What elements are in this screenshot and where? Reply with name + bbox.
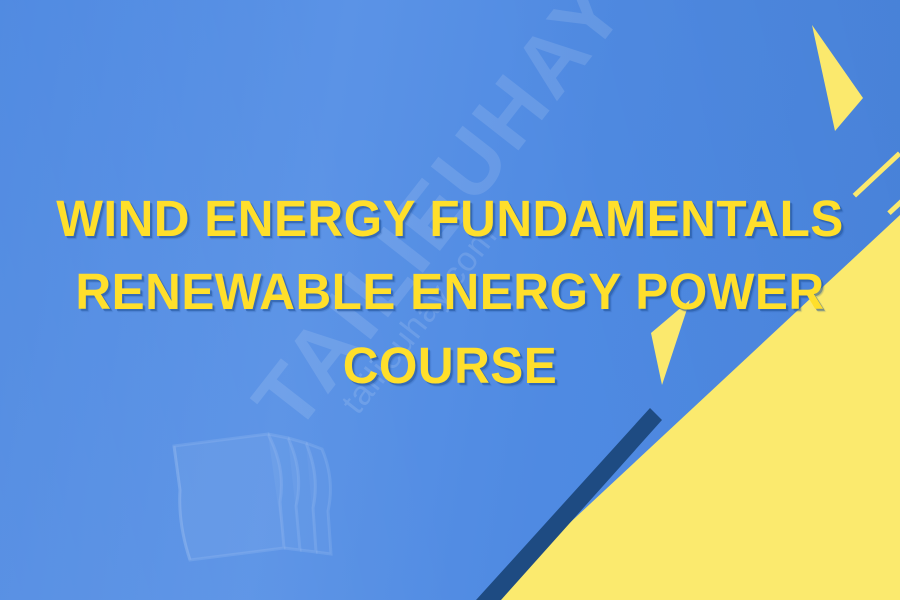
headline-line-1: WIND ENERGY FUNDAMENTALS [14, 182, 887, 255]
headline-line-3: COURSE [14, 329, 887, 402]
headline-block: WIND ENERGY FUNDAMENTALS RENEWABLE ENERG… [0, 182, 900, 402]
course-banner: TAILIEUHAY tailieuhay.com WIND ENERGY FU… [0, 0, 900, 600]
headline-line-2: RENEWABLE ENERGY POWER [14, 255, 887, 328]
